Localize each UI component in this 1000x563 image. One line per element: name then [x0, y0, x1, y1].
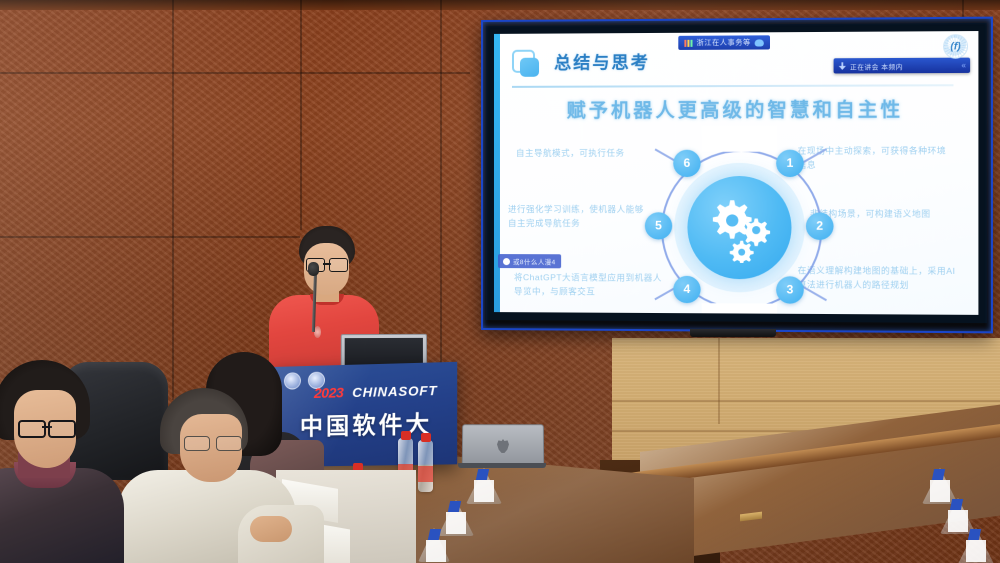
name-card-holder: [466, 468, 502, 504]
diagram-node-5[interactable]: 5: [645, 212, 672, 239]
brand-logo-icon: (f): [943, 34, 968, 59]
download-icon: [839, 62, 846, 70]
diagram-node-2[interactable]: 2: [806, 213, 834, 240]
wall-seam: [0, 236, 300, 238]
diagram-caption-4: 将ChatGPT大语言模型应用到机器人导览中，与顾客交互: [514, 270, 663, 299]
gears-icon: [704, 192, 775, 263]
ring-gap-bottom: [702, 303, 777, 315]
diagram-node-4[interactable]: 4: [673, 276, 700, 303]
display-screen: 总结与思考 赋予机器人更高级的智慧和自主性 自主导航模式，可执行任务 进行强化学…: [481, 17, 993, 334]
speaker-shirt-logo: [314, 326, 321, 338]
attendee-center-hand: [250, 516, 292, 542]
livestream-top-chip[interactable]: 浙江在人事务等: [678, 35, 770, 50]
diagram-node-6[interactable]: 6: [673, 150, 700, 177]
ceiling-strip: [0, 0, 1000, 10]
ring-gap-top: [702, 125, 777, 151]
circular-process-diagram: 1 2 3 4 5 6: [643, 131, 837, 315]
podium-english-name: CHINASOFT: [352, 383, 437, 400]
wall-seam: [612, 400, 1000, 402]
wall-seam: [300, 0, 302, 230]
attendee-center-glasses: [184, 436, 242, 449]
attendee-left-glasses: [18, 420, 76, 434]
watermark-badge: 或8什么人漫4: [498, 254, 561, 268]
cloud-icon: [755, 39, 764, 46]
diagram-node-1[interactable]: 1: [776, 150, 804, 177]
right-chip-label: 正在讲会 本频内: [850, 60, 903, 70]
livestream-right-chip[interactable]: 正在讲会 本频内 ‹‹: [834, 58, 971, 74]
slide-heading: 赋予机器人更高级的智慧和自主性: [494, 94, 978, 123]
watermark-dot-icon: [503, 258, 510, 265]
podium-year: 2023: [314, 384, 343, 401]
screen-stand: [690, 329, 776, 337]
diagram-caption-5: 进行强化学习训练，使机器人能够自主完成导航任务: [508, 202, 644, 230]
water-bottle: [418, 440, 433, 492]
org-emblem-icon: [284, 372, 301, 389]
apple-logo-icon: [497, 439, 509, 453]
diagram-caption-6: 自主导航模式，可执行任务: [516, 146, 657, 160]
wall-seam: [718, 338, 720, 424]
macbook-laptop: [462, 424, 544, 468]
diagram-node-3[interactable]: 3: [776, 276, 804, 303]
presentation-slide: 总结与思考 赋予机器人更高级的智慧和自主性 自主导航模式，可执行任务 进行强化学…: [494, 31, 978, 315]
screenshot-root: 总结与思考 赋予机器人更高级的智慧和自主性 自主导航模式，可执行任务 进行强化学…: [0, 0, 1000, 563]
livestream-chip-label: 浙江在人事务等: [697, 37, 751, 47]
wall-seam: [0, 72, 470, 74]
slide-title: 总结与思考: [554, 49, 650, 78]
screen-inner: 总结与思考 赋予机器人更高级的智慧和自主性 自主导航模式，可执行任务 进行强化学…: [486, 23, 987, 323]
name-card-holder: [418, 528, 450, 562]
title-divider: [512, 84, 953, 88]
signal-bars-icon: [684, 39, 692, 46]
rounded-squares-icon: [512, 50, 542, 78]
slide-accent-bar: [494, 34, 500, 312]
watermark-label: 或8什么人漫4: [513, 256, 556, 266]
name-card-holder: [958, 528, 994, 563]
microphone-icon: [308, 262, 319, 276]
double-chevron-icon[interactable]: ‹‹: [961, 61, 964, 70]
wall-seam: [172, 0, 174, 400]
